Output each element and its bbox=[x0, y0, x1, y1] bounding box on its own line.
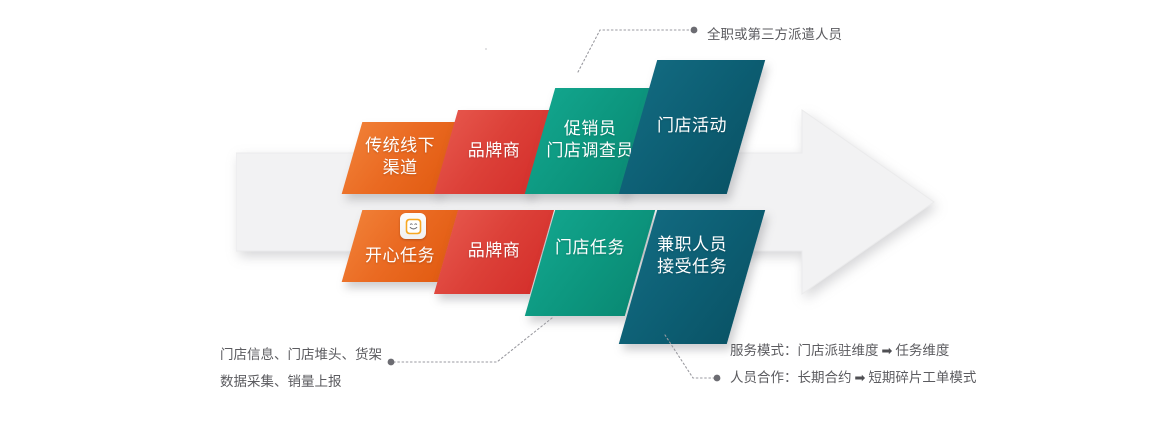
service-model-label: 服务模式： bbox=[730, 343, 798, 359]
annotation-bottom-left-line1: 门店信息、门店堆头、货架 bbox=[220, 342, 382, 369]
chevron-bottom-col2-label: 品牌商 bbox=[446, 241, 542, 263]
staff-cooperation-arrow-icon: ➡ bbox=[852, 371, 869, 386]
annotation-top-right-line1: 全职或第三方派遣人员 bbox=[707, 22, 842, 49]
chevron-top-col2-label: 品牌商 bbox=[446, 141, 542, 163]
staff-cooperation-to: 短期碎片工单模式 bbox=[868, 370, 976, 386]
diagram-canvas: 传统线下 渠道 品牌商 促销员 门店调查员 门店活动 开心任务 品牌商 门店任务… bbox=[0, 0, 1150, 430]
speck-artifact bbox=[485, 48, 487, 50]
chevron-bottom-col3-label: 门店任务 bbox=[540, 238, 640, 288]
service-model-arrow-icon: ➡ bbox=[879, 344, 896, 359]
annotation-top-right: 全职或第三方派遣人员 bbox=[707, 22, 842, 49]
chevron-top-col3-label: 促销员 门店调查员 bbox=[540, 119, 640, 163]
annotation-staff-cooperation-line: 人员合作：长期合约➡短期碎片工单模式 bbox=[730, 365, 976, 392]
chevron-top-col1-label: 传统线下 渠道 bbox=[352, 136, 448, 180]
service-model-to: 任务维度 bbox=[895, 343, 949, 359]
service-model-from: 门店派驻维度 bbox=[798, 343, 879, 359]
annotation-bottom-left: 门店信息、门店堆头、货架 数据采集、销量上报 bbox=[220, 342, 382, 396]
chevron-top-col4-label: 门店活动 bbox=[638, 116, 746, 138]
annotation-service-model-line: 服务模式：门店派驻维度➡任务维度 bbox=[730, 338, 976, 365]
annotation-bottom-left-line2: 数据采集、销量上报 bbox=[220, 369, 382, 396]
annotation-bottom-right: 服务模式：门店派驻维度➡任务维度 人员合作：长期合约➡短期碎片工单模式 bbox=[730, 338, 976, 392]
chevron-bottom-col4-label: 兼职人员 接受任务 bbox=[638, 235, 746, 319]
smiley-app-icon[interactable] bbox=[400, 213, 426, 239]
staff-cooperation-label: 人员合作： bbox=[730, 370, 798, 386]
staff-cooperation-from: 长期合约 bbox=[798, 370, 852, 386]
